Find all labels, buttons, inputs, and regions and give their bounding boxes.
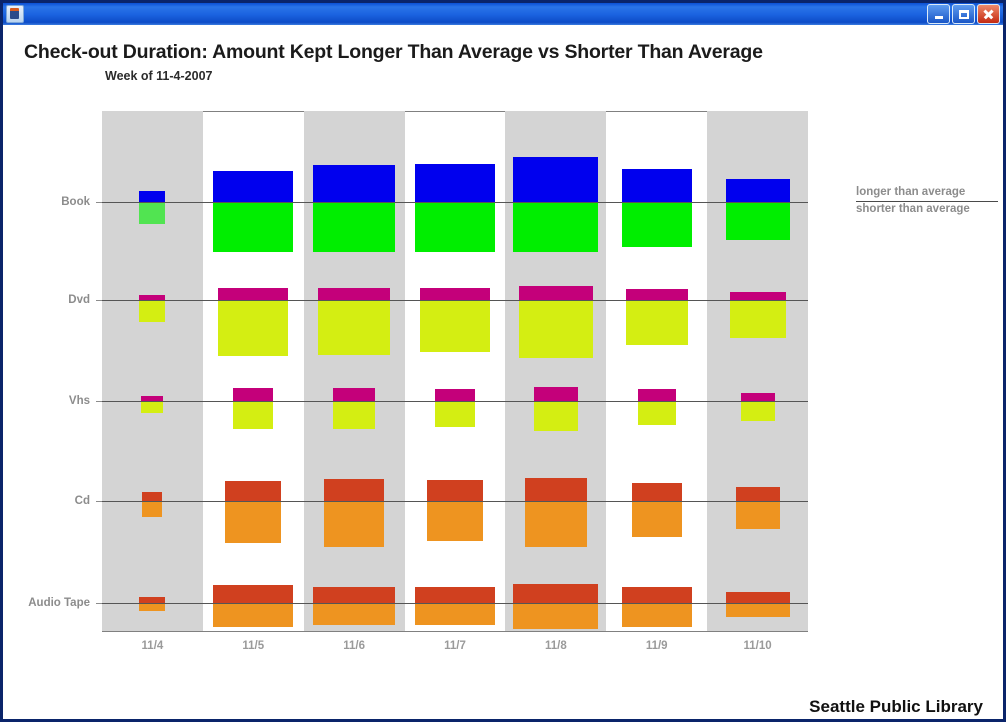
bar-longer-than-average [225,481,281,501]
bar-longer-than-average [318,288,390,300]
plot-top-border [102,111,808,112]
minimize-button[interactable] [927,4,950,24]
bar-longer-than-average [142,492,162,501]
bar-longer-than-average [435,389,475,401]
maximize-button[interactable] [952,4,975,24]
y-axis-tick [96,300,102,301]
bar-shorter-than-average [427,501,483,541]
footer-branding: Seattle Public Library [809,697,983,717]
x-axis-label: 11/6 [304,640,405,652]
y-axis-label-dvd: Dvd [68,294,90,306]
bar-shorter-than-average [736,501,780,529]
x-axis-label: 11/4 [102,640,203,652]
bar-longer-than-average [513,584,598,603]
bar-shorter-than-average [213,603,293,627]
bar-shorter-than-average [519,300,593,358]
bar-longer-than-average [741,393,775,401]
bar-longer-than-average [622,169,692,202]
category-baseline [102,401,808,402]
y-axis-label-book: Book [61,196,90,208]
bar-longer-than-average [632,483,682,501]
bar-shorter-than-average [141,401,163,413]
bar-longer-than-average [420,288,490,300]
bar-longer-than-average [313,165,395,202]
x-axis-label: 11/8 [505,640,606,652]
category-baseline [102,501,808,502]
bar-shorter-than-average [333,401,375,429]
bar-shorter-than-average [142,501,162,517]
y-axis-tick [96,401,102,402]
bar-longer-than-average [139,191,165,202]
bar-shorter-than-average [225,501,281,543]
bar-longer-than-average [519,286,593,300]
bar-longer-than-average [324,479,384,501]
bar-longer-than-average [313,587,395,603]
column-band [102,111,203,631]
bar-longer-than-average [218,288,288,300]
application-window: Check-out Duration: Amount Kept Longer T… [0,0,1006,722]
y-axis-label-audio-tape: Audio Tape [28,597,90,609]
x-axis-label: 11/10 [707,640,808,652]
legend-shorter-than-average: shorter than average [856,202,996,217]
bar-longer-than-average [513,157,598,202]
bar-shorter-than-average [730,300,786,338]
bar-shorter-than-average [415,603,495,625]
y-axis-tick [96,501,102,502]
bar-shorter-than-average [741,401,775,421]
bar-longer-than-average [213,585,293,603]
bar-shorter-than-average [525,501,587,547]
x-axis-label: 11/9 [606,640,707,652]
bar-shorter-than-average [626,300,688,345]
bar-longer-than-average [333,388,375,401]
bar-shorter-than-average [622,603,692,627]
bar-shorter-than-average [638,401,676,425]
maximize-icon [959,10,969,19]
y-axis-label-cd: Cd [75,495,90,507]
bar-shorter-than-average [726,603,790,617]
plot-bottom-border [102,631,808,632]
bar-longer-than-average [427,480,483,501]
bar-longer-than-average [233,388,273,401]
close-button[interactable] [977,4,1000,24]
bar-shorter-than-average [415,202,495,252]
y-axis: BookDvdVhsCdAudio Tape [3,111,102,631]
bar-shorter-than-average [324,501,384,547]
y-axis-tick [96,603,102,604]
category-baseline [102,202,808,203]
bar-shorter-than-average [622,202,692,247]
bar-longer-than-average [622,587,692,603]
x-axis-label: 11/5 [203,640,304,652]
chart-canvas: Check-out Duration: Amount Kept Longer T… [3,25,1003,719]
bar-longer-than-average [730,292,786,300]
bar-shorter-than-average [435,401,475,427]
java-coffee-cup-icon [6,5,24,23]
bar-shorter-than-average [632,501,682,537]
window-controls [927,4,1000,24]
bar-shorter-than-average [534,401,578,431]
x-axis-label: 11/7 [405,640,506,652]
category-baseline [102,300,808,301]
plot-area [102,111,808,631]
close-icon [983,9,994,20]
bar-shorter-than-average [139,202,165,224]
bar-longer-than-average [415,587,495,603]
bar-shorter-than-average [313,603,395,625]
bar-shorter-than-average [420,300,490,352]
chart-subtitle: Week of 11-4-2007 [105,69,212,83]
bar-shorter-than-average [513,202,598,252]
bar-longer-than-average [415,164,495,202]
bar-longer-than-average [638,389,676,401]
bar-shorter-than-average [513,603,598,629]
bar-longer-than-average [213,171,293,202]
legend: longer than average shorter than average [856,185,996,217]
bar-shorter-than-average [139,603,165,611]
bar-longer-than-average [726,179,790,202]
bar-longer-than-average [736,487,780,501]
category-baseline [102,603,808,604]
bar-shorter-than-average [139,300,165,322]
y-axis-tick [96,202,102,203]
bar-longer-than-average [626,289,688,300]
bar-shorter-than-average [233,401,273,429]
window-title-bar [3,3,1003,25]
y-axis-label-vhs: Vhs [69,395,90,407]
legend-longer-than-average: longer than average [856,185,996,200]
bar-longer-than-average [534,387,578,401]
bar-longer-than-average [525,478,587,501]
bar-shorter-than-average [218,300,288,356]
minimize-icon [935,16,943,19]
bar-shorter-than-average [726,202,790,240]
bar-shorter-than-average [313,202,395,252]
bar-shorter-than-average [213,202,293,252]
bar-shorter-than-average [318,300,390,355]
bar-longer-than-average [726,592,790,603]
chart-title: Check-out Duration: Amount Kept Longer T… [24,41,763,64]
